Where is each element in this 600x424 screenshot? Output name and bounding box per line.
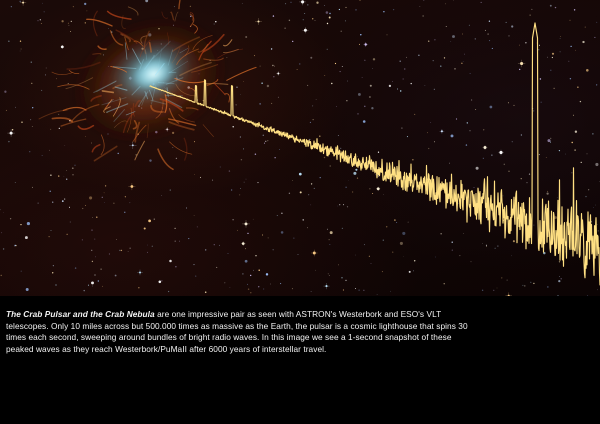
caption-lead: The Crab Pulsar and the Crab Nebula <box>6 309 155 319</box>
pulsar-signal-waveform <box>0 0 600 296</box>
crab-nebula-photograph <box>0 0 600 296</box>
astron-crab-pulsar-poster: The Crab Pulsar and the Crab Nebula are … <box>0 0 600 424</box>
poster-caption: The Crab Pulsar and the Crab Nebula are … <box>6 309 472 355</box>
caption-band: The Crab Pulsar and the Crab Nebula are … <box>0 296 600 424</box>
